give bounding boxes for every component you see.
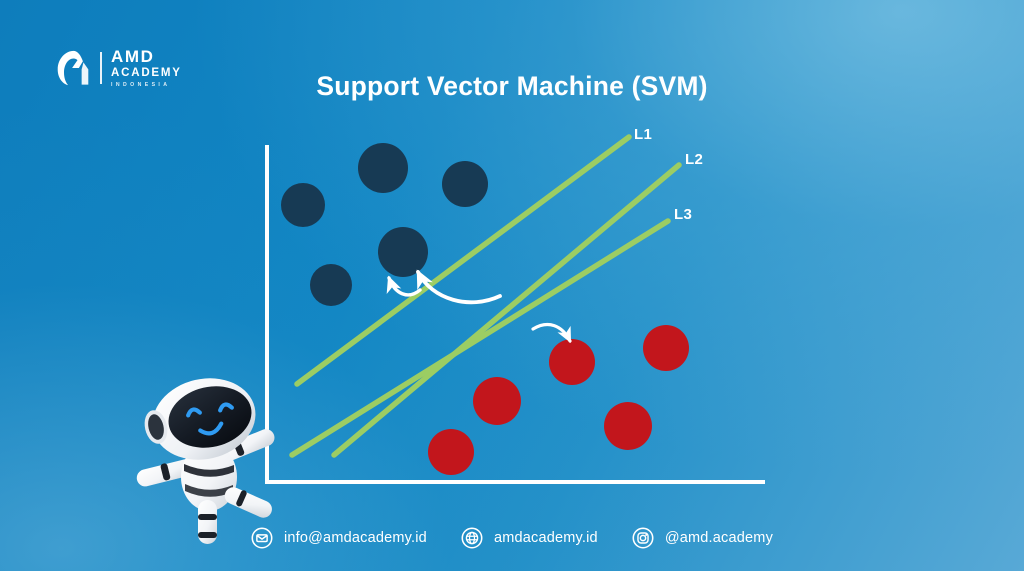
contact-instagram-text: @amd.academy xyxy=(665,530,773,546)
contact-website[interactable]: amdacademy.id xyxy=(461,527,598,549)
data-point-navy xyxy=(281,183,325,227)
contact-email[interactable]: info@amdacademy.id xyxy=(251,527,427,549)
data-point-navy xyxy=(442,161,488,207)
slide-canvas: AMD ACADEMY INDONESIA Support Vector Mac… xyxy=(0,0,1024,571)
contact-website-text: amdacademy.id xyxy=(494,530,598,546)
data-point-red xyxy=(549,339,595,385)
line-label-l3: L3 xyxy=(674,206,692,223)
instagram-icon xyxy=(632,527,654,549)
data-point-navy xyxy=(310,264,352,306)
amd-robot-mascot xyxy=(132,372,282,544)
data-point-red xyxy=(604,402,652,450)
contact-instagram[interactable]: @amd.academy xyxy=(632,527,773,549)
line-label-l1: L1 xyxy=(634,126,652,143)
contact-email-text: info@amdacademy.id xyxy=(284,530,427,546)
email-icon xyxy=(251,527,273,549)
footer-contact-bar: info@amdacademy.id amdacademy.id @amd.ac… xyxy=(0,527,1024,549)
data-point-red xyxy=(428,429,474,475)
data-point-red xyxy=(473,377,521,425)
globe-icon xyxy=(461,527,483,549)
line-label-l2: L2 xyxy=(685,151,703,168)
data-point-navy xyxy=(358,143,408,193)
data-point-red xyxy=(643,325,689,371)
data-point-navy xyxy=(378,227,428,277)
